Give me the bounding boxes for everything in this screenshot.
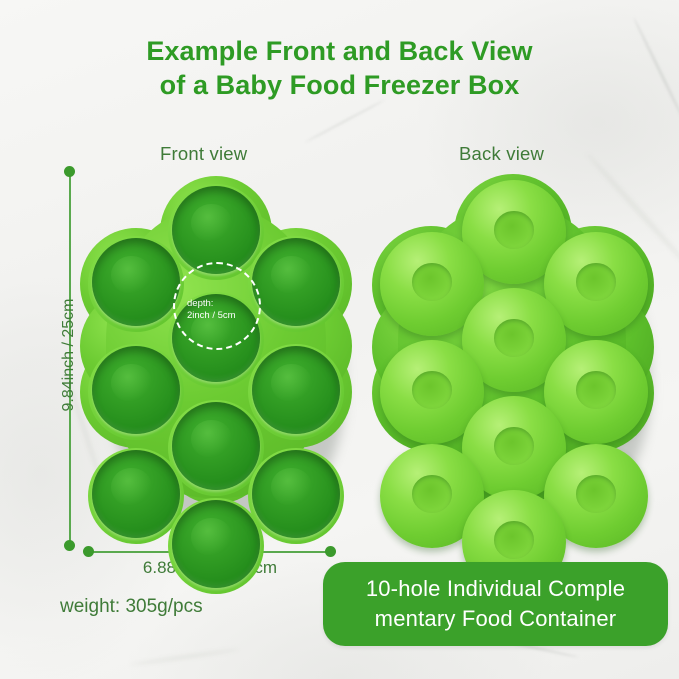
depth-callout: depth: 2inch / 5cm <box>173 262 261 350</box>
depth-callout-text: depth: 2inch / 5cm <box>187 298 251 322</box>
title-line-2: of a Baby Food Freezer Box <box>0 68 679 102</box>
banner-line-1: 10-hole Individual Comple <box>366 576 625 601</box>
page-title: Example Front and Back View of a Baby Fo… <box>0 34 679 102</box>
width-guide-dot-left <box>83 546 94 557</box>
tray-cavity <box>252 238 340 326</box>
marble-vein <box>305 99 385 143</box>
tray-cavity <box>172 186 260 274</box>
tray-cavity <box>172 402 260 490</box>
tray-cavity <box>172 500 260 588</box>
depth-value: 2inch / 5cm <box>187 310 251 322</box>
back-view-tray <box>358 168 658 538</box>
tray-cavity <box>92 346 180 434</box>
tray-cavity <box>252 450 340 538</box>
product-infographic: Example Front and Back View of a Baby Fo… <box>0 0 679 679</box>
marble-vein <box>130 647 239 666</box>
title-line-1: Example Front and Back View <box>146 36 532 66</box>
banner-line-2: mentary Food Container <box>366 604 625 634</box>
tray-body <box>62 168 362 538</box>
height-guide-dot-bottom <box>64 540 75 551</box>
front-view-tray: depth: 2inch / 5cm <box>62 168 362 538</box>
width-guide-dot-right <box>325 546 336 557</box>
tray-cavity <box>92 238 180 326</box>
depth-label: depth: <box>187 298 213 309</box>
weight-label: weight: 305g/pcs <box>60 596 310 618</box>
product-name-banner: 10-hole Individual Comple mentary Food C… <box>323 562 668 646</box>
product-name-text: 10-hole Individual Comple mentary Food C… <box>366 574 625 634</box>
tray-cavity <box>252 346 340 434</box>
front-view-label: Front view <box>160 143 247 165</box>
tray-cavity <box>92 450 180 538</box>
tray-body <box>358 168 658 538</box>
back-view-label: Back view <box>459 143 544 165</box>
